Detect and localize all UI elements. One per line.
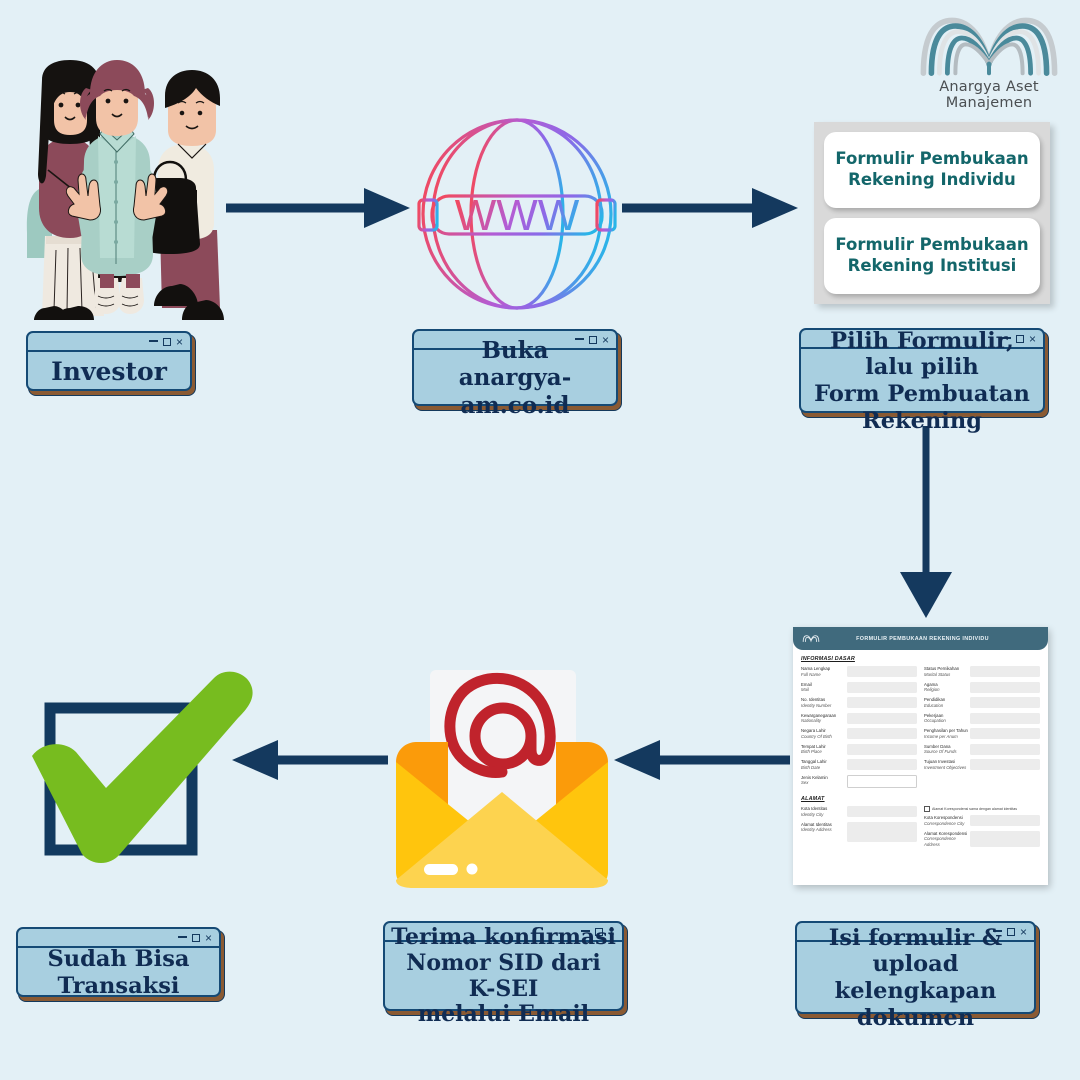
arrow-document-to-email: [612, 736, 792, 784]
form-field-negara-lahir: Negara LahirCountry Of Birth: [801, 728, 917, 739]
close-icon[interactable]: ×: [176, 338, 183, 346]
checkbox-icon[interactable]: [924, 806, 930, 812]
same-address-checkbox-row[interactable]: Alamat Korespondensi sama dengan alamat …: [924, 806, 1040, 812]
caption-email-line1: Terima konfirmasi: [391, 924, 616, 950]
sublabel-email: Mail: [801, 687, 847, 693]
caption-investor-text: Investor: [51, 357, 167, 387]
label-pendidikan: Pendidikan: [924, 697, 945, 702]
account-opening-form-document: FORMULIR PEMBUKAAN REKENING INDIVIDU INF…: [793, 627, 1048, 885]
label-no-identitas: No. Identitas: [801, 697, 825, 702]
label-tujuan-investasi: Tujuan Investasi: [924, 759, 955, 764]
form-header: FORMULIR PEMBUKAAN REKENING INDIVIDU: [793, 627, 1048, 650]
input-status-pernikahan[interactable]: [970, 666, 1040, 677]
form-field-status-pernikahan: Status PernikahanMarital Status: [924, 666, 1040, 677]
input-kewarganegaraan[interactable]: [847, 713, 917, 724]
form-field-pekerjaan: PekerjaanOccupation: [924, 713, 1040, 724]
form-card-institusi-line1: Formulir Pembukaan: [835, 235, 1028, 254]
form-card-institusi-line2: Rekening Institusi: [848, 256, 1017, 275]
input-kota-korespondensi[interactable]: [970, 815, 1040, 826]
arrow-investor-to-website: [224, 184, 414, 232]
green-checkmark-icon: [28, 668, 260, 890]
input-penghasilan[interactable]: [970, 728, 1040, 739]
caption-website-line1: Buka: [481, 337, 548, 364]
sublabel-agama: Religion: [924, 687, 970, 693]
caption-ready-text: Sudah Bisa Transaksi: [24, 946, 213, 999]
input-agama[interactable]: [970, 682, 1040, 693]
caption-window-website: × Buka anargya-am.co.id: [412, 329, 618, 406]
input-nama-lengkap[interactable]: [847, 666, 917, 677]
sublabel-kota-identitas: Identity City: [801, 812, 847, 818]
label-kewarganegaraan: Kewarganegaraan: [801, 713, 836, 718]
minimize-icon[interactable]: [178, 936, 187, 938]
form-field-tujuan-investasi: Tujuan InvestasiInvestment Objectives: [924, 759, 1040, 770]
anargya-logo-mark: [909, 14, 1069, 78]
sublabel-alamat-korespondensi: Correspondence Address: [924, 836, 970, 847]
label-jenis-kelamin: Jenis Kelamin: [801, 775, 828, 780]
maximize-icon[interactable]: [163, 338, 171, 346]
form-column-right: Status PernikahanMarital Status AgamaRel…: [924, 666, 1040, 792]
infographic-canvas: Anargya Aset Manajemen: [0, 0, 1080, 1080]
caption-window-ready: × Sudah Bisa Transaksi: [16, 927, 221, 997]
caption-window-investor: × Investor: [26, 331, 192, 391]
input-jenis-kelamin[interactable]: [847, 775, 917, 788]
three-people-illustration: [12, 58, 227, 320]
label-alamat-identitas: Alamat Identitas: [801, 822, 832, 827]
form-field-nama-lengkap: Nama LengkapFull Name: [801, 666, 917, 677]
form-field-kota-identitas: Kota IdentitasIdentity City: [801, 806, 917, 817]
caption-fill-line2: kelengkapan dokumen: [835, 978, 997, 1031]
input-tanggal-lahir[interactable]: [847, 759, 917, 770]
input-tujuan-investasi[interactable]: [970, 759, 1040, 770]
label-tempat-lahir: Tempat Lahir: [801, 744, 826, 749]
input-tempat-lahir[interactable]: [847, 744, 917, 755]
window-titlebar: ×: [28, 333, 190, 352]
form-field-email: EmailMail: [801, 682, 917, 693]
form-field-no-identitas: No. IdentitasIdentity Number: [801, 697, 917, 708]
input-no-identitas[interactable]: [847, 697, 917, 708]
input-pekerjaan[interactable]: [970, 713, 1040, 724]
input-alamat-korespondensi[interactable]: [970, 831, 1040, 847]
sublabel-status-pernikahan: Marital Status: [924, 672, 970, 678]
label-tanggal-lahir: Tanggal Lahir: [801, 759, 827, 764]
www-globe-icon: WWW: [408, 112, 626, 317]
caption-window-email: × Terima konfirmasi Nomor SID dari K-SEI…: [383, 921, 624, 1011]
input-sumber-dana[interactable]: [970, 744, 1040, 755]
input-pendidikan[interactable]: [970, 697, 1040, 708]
sublabel-negara-lahir: Country Of Birth: [801, 734, 847, 740]
form-choice-panel: Formulir Pembukaan Rekening Individu For…: [814, 122, 1050, 304]
label-alamat-korespondensi: Alamat Korespondensi: [924, 831, 967, 836]
open-envelope-at-icon: [388, 658, 616, 892]
label-status-pernikahan: Status Pernikahan: [924, 666, 959, 671]
sublabel-alamat-identitas: Identity Address: [801, 827, 847, 833]
caption-window-choose-form: × Pilih Formulir, lalu pilih Form Pembua…: [799, 328, 1045, 413]
caption-choose-line2: Form Pembuatan Rekening: [814, 381, 1030, 434]
caption-email-line3: melalui Email: [418, 1001, 589, 1027]
label-agama: Agama: [924, 682, 938, 687]
input-email[interactable]: [847, 682, 917, 693]
form-field-alamat-identitas: Alamat IdentitasIdentity Address: [801, 822, 917, 842]
minimize-icon[interactable]: [149, 340, 158, 342]
caption-email-line2: Nomor SID dari K-SEI: [406, 950, 601, 1002]
sublabel-pekerjaan: Occupation: [924, 718, 970, 724]
close-icon[interactable]: ×: [205, 934, 212, 942]
label-penghasilan: Penghasilan per Tahun: [924, 728, 968, 733]
label-negara-lahir: Negara Lahir: [801, 728, 826, 733]
label-sumber-dana: Sumber Dana: [924, 744, 951, 749]
form-field-sumber-dana: Sumber DanaSource Of Funds: [924, 744, 1040, 755]
address-column-right: Alamat Korespondensi sama dengan alamat …: [924, 806, 1040, 852]
brand-logo: Anargya Aset Manajemen: [905, 14, 1073, 106]
form-section-alamat: ALAMAT: [801, 796, 1040, 802]
form-column-left: Nama LengkapFull Name EmailMail No. Iden…: [801, 666, 917, 792]
label-nama-lengkap: Nama Lengkap: [801, 666, 830, 671]
form-field-tempat-lahir: Tempat LahirBirth Place: [801, 744, 917, 755]
sublabel-nama-lengkap: Full Name: [801, 672, 847, 678]
sublabel-tempat-lahir: Birth Place: [801, 749, 847, 755]
form-field-agama: AgamaReligion: [924, 682, 1040, 693]
caption-website-line2: anargya-am.co.id: [459, 364, 572, 418]
arrow-forms-to-document: [890, 424, 962, 620]
input-alamat-identitas[interactable]: [847, 822, 917, 842]
form-field-penghasilan: Penghasilan per TahunIncome per Anum: [924, 728, 1040, 739]
caption-choose-line1: Pilih Formulir, lalu pilih: [830, 328, 1014, 381]
form-field-kewarganegaraan: KewarganegaraanNationality: [801, 713, 917, 724]
form-card-institusi[interactable]: Formulir Pembukaan Rekening Institusi: [824, 218, 1040, 294]
sublabel-kota-korespondensi: Correspondence City: [924, 821, 970, 827]
label-kota-korespondensi: Kota Korespondensi: [924, 815, 963, 820]
input-kota-identitas[interactable]: [847, 806, 917, 817]
sublabel-tujuan-investasi: Investment Objectives: [924, 765, 970, 771]
form-card-individu-line2: Rekening Individu: [848, 170, 1016, 189]
form-field-alamat-korespondensi: Alamat KorespondensiCorrespondence Addre…: [924, 831, 1040, 848]
sublabel-no-identitas: Identity Number: [801, 703, 847, 709]
form-field-tanggal-lahir: Tanggal LahirBirth Date: [801, 759, 917, 770]
globe-www-label: WWW: [455, 191, 580, 240]
form-card-individu-line1: Formulir Pembukaan: [835, 149, 1028, 168]
caption-fill-line1: Isi formulir & upload: [829, 925, 1002, 978]
arrow-website-to-forms: [620, 184, 802, 232]
sublabel-jenis-kelamin: Sex: [801, 780, 847, 786]
address-column-left: Kota IdentitasIdentity City Alamat Ident…: [801, 806, 917, 852]
maximize-icon[interactable]: [192, 934, 200, 942]
form-title: FORMULIR PEMBUKAAN REKENING INDIVIDU: [821, 636, 1040, 642]
same-address-label: Alamat Korespondensi sama dengan alamat …: [932, 807, 1017, 811]
label-pekerjaan: Pekerjaan: [924, 713, 943, 718]
sublabel-pendidikan: Education: [924, 703, 970, 709]
form-card-individu[interactable]: Formulir Pembukaan Rekening Individu: [824, 132, 1040, 208]
form-field-jenis-kelamin: Jenis KelaminSex: [801, 775, 917, 788]
brand-name: Anargya Aset Manajemen: [905, 79, 1073, 111]
form-logo-icon: [801, 632, 821, 645]
sublabel-kewarganegaraan: Nationality: [801, 718, 847, 724]
label-email: Email: [801, 682, 812, 687]
form-field-pendidikan: PendidikanEducation: [924, 697, 1040, 708]
caption-window-fill-form: × Isi formulir & upload kelengkapan doku…: [795, 921, 1036, 1014]
form-section-informasi-dasar: INFORMASI DASAR: [801, 656, 1040, 662]
form-field-kota-korespondensi: Kota KorespondensiCorrespondence City: [924, 815, 1040, 826]
input-negara-lahir[interactable]: [847, 728, 917, 739]
sublabel-sumber-dana: Source Of Funds: [924, 749, 970, 755]
label-kota-identitas: Kota Identitas: [801, 806, 827, 811]
sublabel-tanggal-lahir: Birth Date: [801, 765, 847, 771]
sublabel-penghasilan: Income per Anum: [924, 734, 970, 740]
